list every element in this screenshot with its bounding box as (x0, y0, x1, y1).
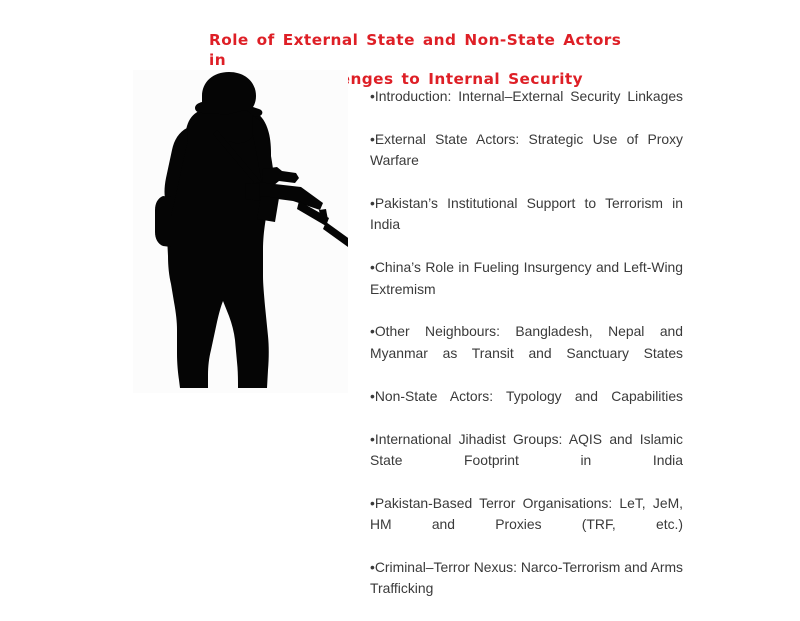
list-item-text: Pakistan-Based Terror Organisations: LeT… (370, 495, 683, 532)
list-item: •Other Neighbours: Bangladesh, Nepal and… (370, 321, 683, 385)
list-item-text: Non-State Actors: Typology and Capabilit… (375, 388, 683, 404)
presentation-slide: Role of External State and Non-State Act… (0, 0, 800, 445)
list-item: •Introduction: Internal–External Securit… (370, 86, 683, 129)
list-item-text: Criminal–Terror Nexus: Narco-Terrorism a… (370, 559, 683, 596)
soldier-silhouette-image (133, 70, 348, 393)
list-item: •Criminal–Terror Nexus: Narco-Terrorism … (370, 557, 683, 621)
list-item-text: Introduction: Internal–External Security… (375, 88, 683, 104)
list-item-text: International Jihadist Groups: AQIS and … (370, 431, 683, 468)
list-item-text: Other Neighbours: Bangladesh, Nepal and … (370, 323, 683, 360)
list-item: •Non-State Actors: Typology and Capabili… (370, 386, 683, 429)
list-item: •Pakistan-Based Terror Organisations: Le… (370, 493, 683, 557)
soldier-silhouette-icon (133, 70, 348, 393)
bullet-list: •Introduction: Internal–External Securit… (370, 86, 683, 621)
list-item: •International Jihadist Groups: AQIS and… (370, 429, 683, 493)
list-item: •China’s Role in Fueling Insurgency and … (370, 257, 683, 321)
list-item-text: External State Actors: Strategic Use of … (370, 131, 683, 168)
list-item: •External State Actors: Strategic Use of… (370, 129, 683, 193)
list-item: •Pakistan’s Institutional Support to Ter… (370, 193, 683, 257)
list-item-text: China’s Role in Fueling Insurgency and L… (370, 259, 683, 296)
list-item-text: Pakistan’s Institutional Support to Terr… (370, 195, 683, 232)
